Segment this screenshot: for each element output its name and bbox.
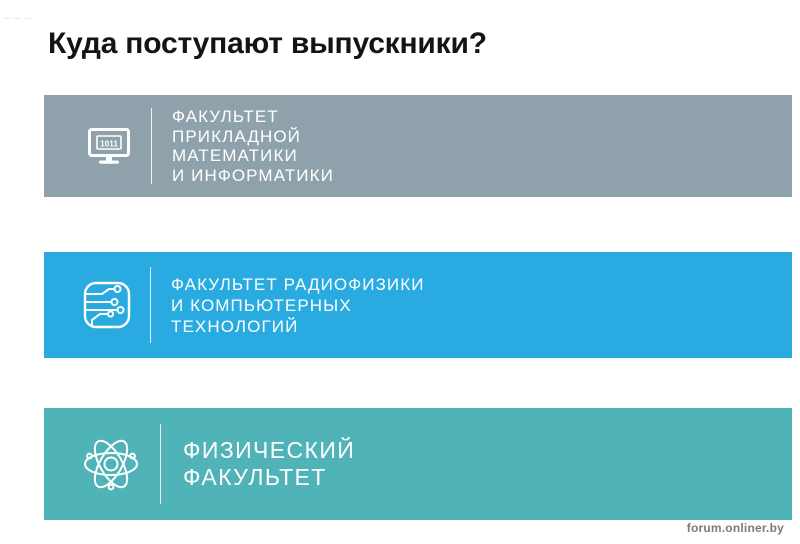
watermark: forum.onliner.by [679,518,792,538]
banner-text-line: И КОМПЬЮТЕРНЫХ [171,295,425,316]
atom-icon [82,435,140,493]
banner-physics[interactable]: ФИЗИЧЕСКИЙ ФАКУЛЬТЕТ [44,408,792,520]
banner-physics-text: ФИЗИЧЕСКИЙ ФАКУЛЬТЕТ [183,437,355,491]
scan-artifact [4,16,38,20]
banner-divider [151,108,152,184]
banner-text-line: МАТЕМАТИКИ [172,146,334,166]
banner-divider [150,267,151,343]
banner-text-line: ТЕХНОЛОГИЙ [171,316,425,337]
banner-text-line: ФИЗИЧЕСКИЙ [183,437,355,464]
banner-divider [160,424,161,504]
banner-applied-mathematics-text: ФАКУЛЬТЕТ ПРИКЛАДНОЙ МАТЕМАТИКИ И ИНФОРМ… [172,107,334,185]
banner-text-line: И ИНФОРМАТИКИ [172,166,334,186]
monitor-screen-label: 1011 [100,139,118,148]
banner-text-line: ПРИКЛАДНОЙ [172,127,334,147]
banner-radiophysics[interactable]: ФАКУЛЬТЕТ РАДИОФИЗИКИ И КОМПЬЮТЕРНЫХ ТЕХ… [44,252,792,358]
page-title: Куда поступают выпускники? [48,24,487,64]
circuit-chip-icon [82,280,132,330]
banner-radiophysics-text: ФАКУЛЬТЕТ РАДИОФИЗИКИ И КОМПЬЮТЕРНЫХ ТЕХ… [171,274,425,337]
banner-text-line: ФАКУЛЬТЕТ РАДИОФИЗИКИ [171,274,425,295]
banner-text-line: ФАКУЛЬТЕТ [183,464,355,491]
banner-applied-mathematics[interactable]: 1011 ФАКУЛЬТЕТ ПРИКЛАДНОЙ МАТЕМАТИКИ И И… [44,95,792,197]
monitor-icon: 1011 [86,123,132,169]
banner-text-line: ФАКУЛЬТЕТ [172,107,334,127]
